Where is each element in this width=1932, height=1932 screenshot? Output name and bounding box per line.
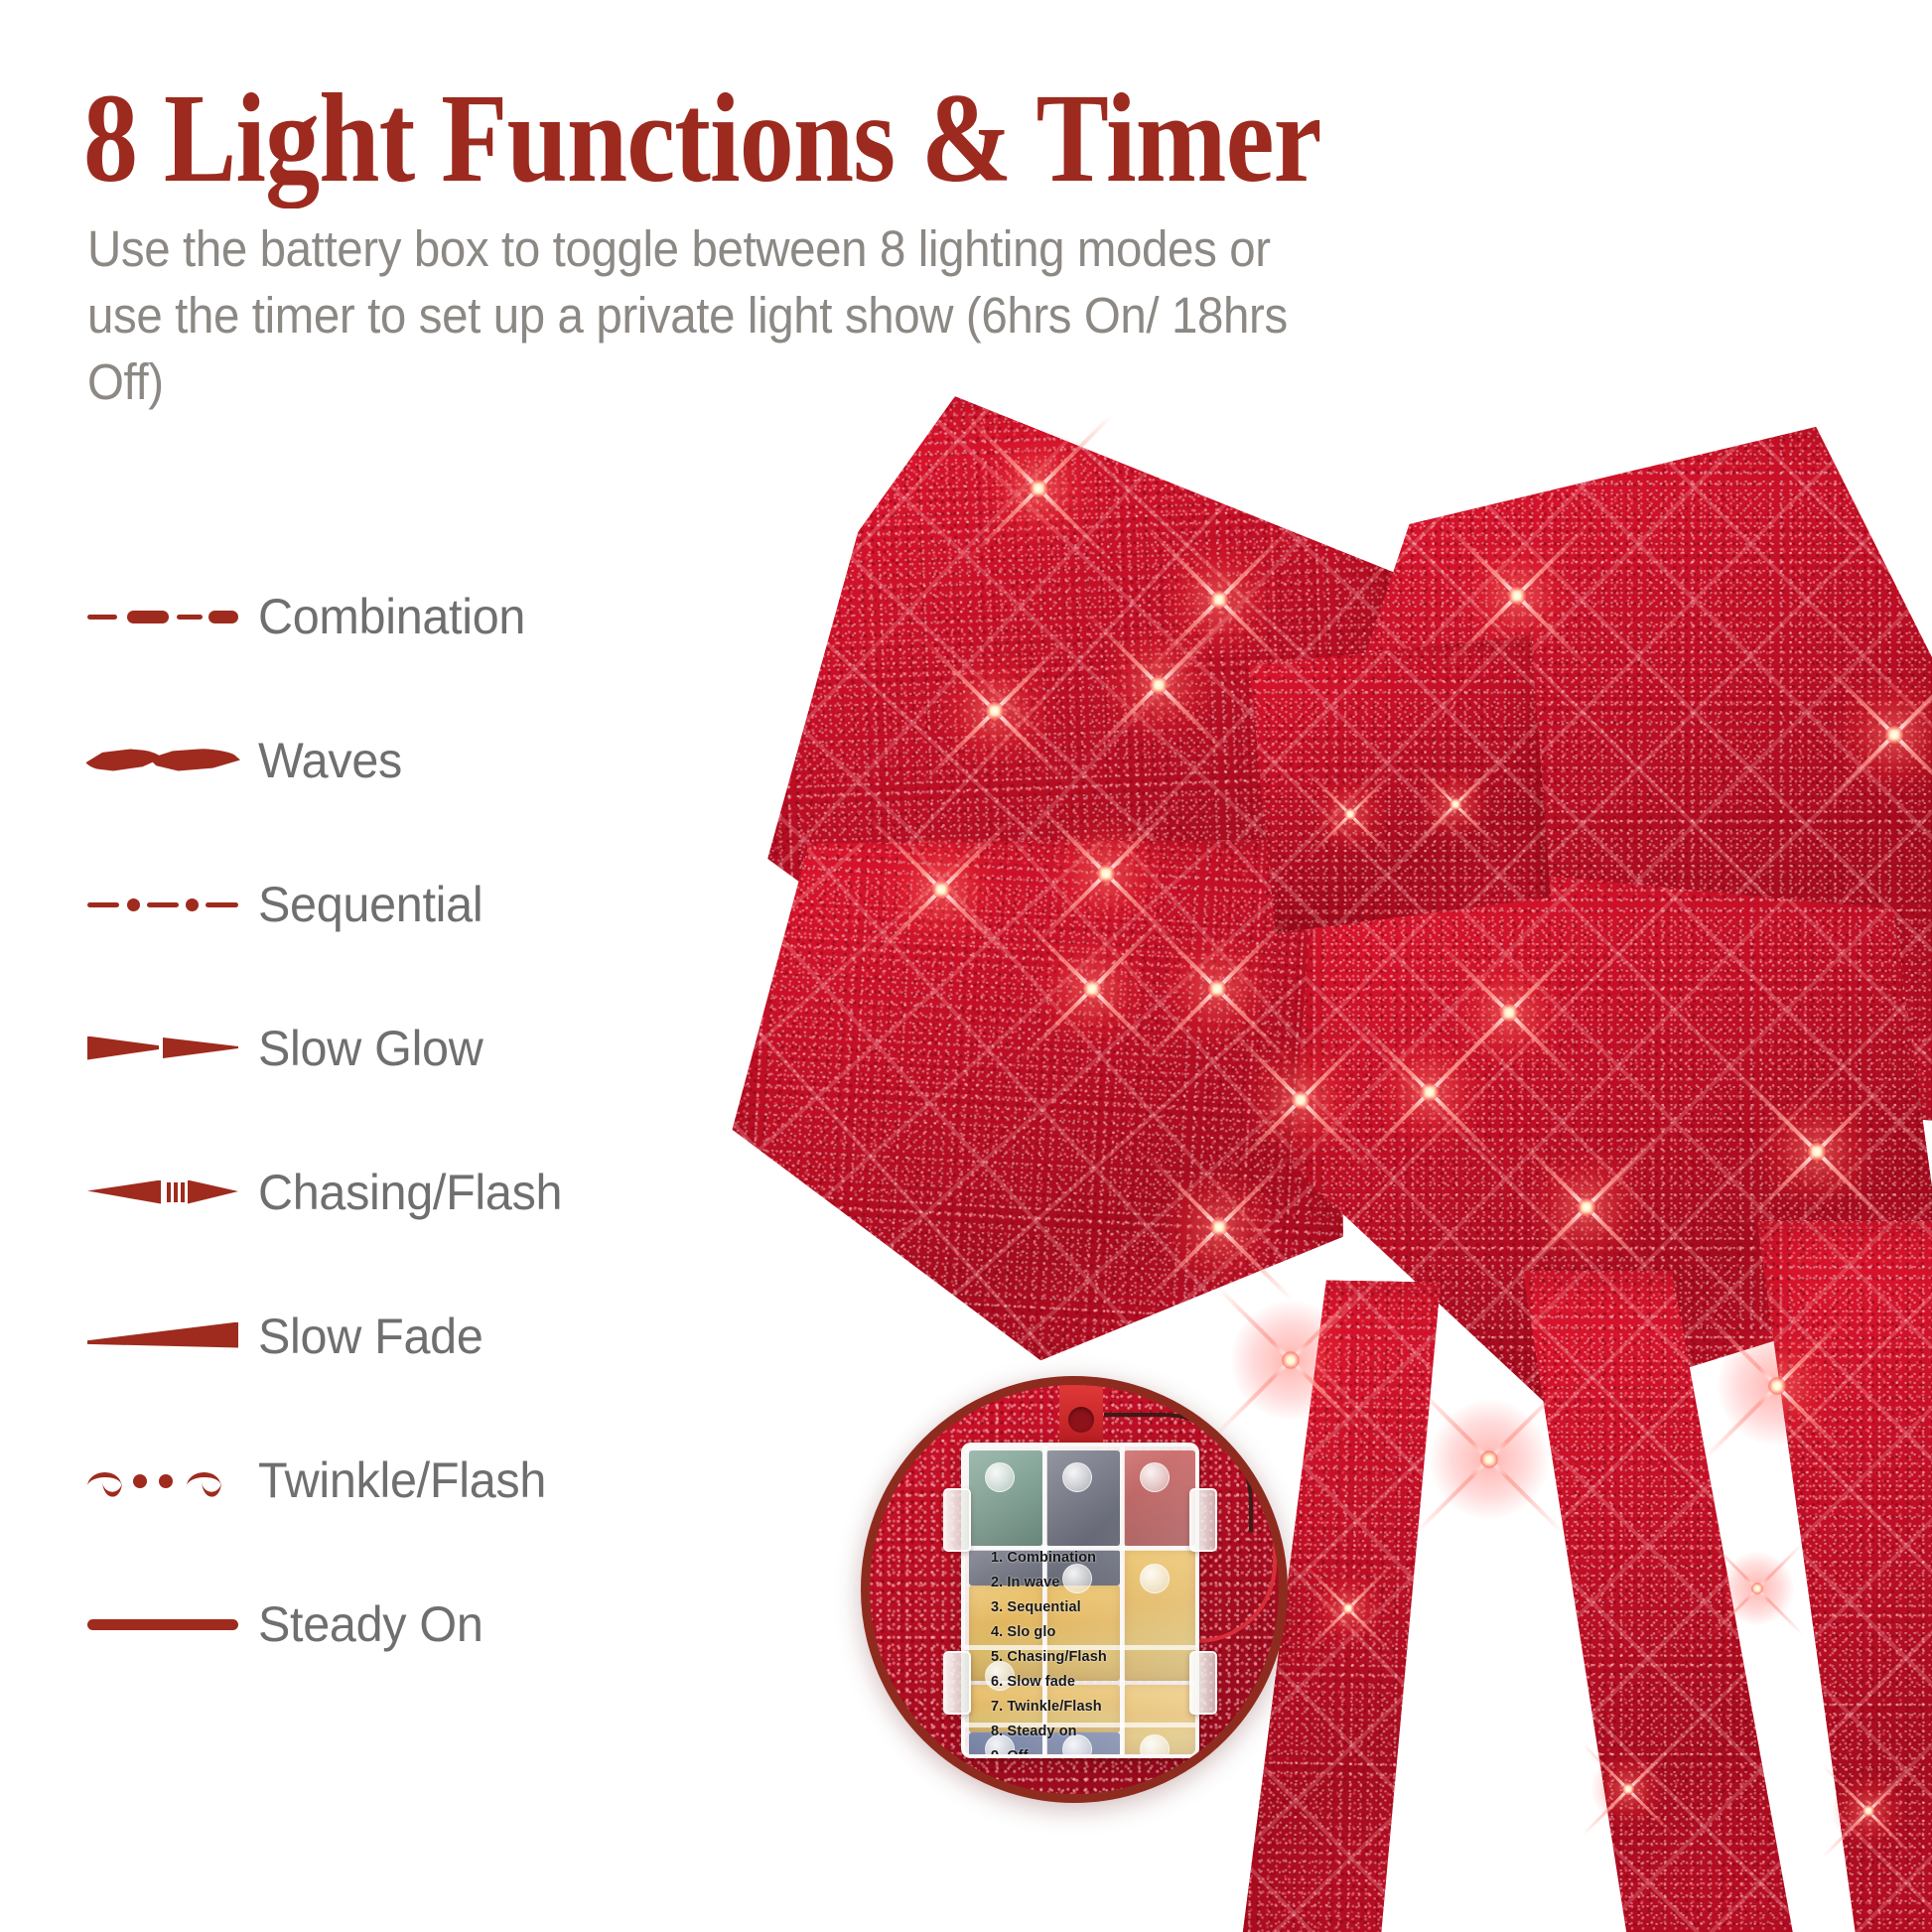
tapering-wedge-icon — [87, 1316, 236, 1356]
legend-item-waves: Waves — [87, 688, 802, 832]
dash-dot-line-icon — [87, 885, 236, 924]
legend-label: Combination — [258, 588, 525, 645]
legend-item-sequential: Sequential — [87, 832, 802, 976]
legend-label: Slow Glow — [258, 1020, 483, 1077]
page-title: 8 Light Functions & Timer — [83, 66, 1321, 211]
page-subtitle: Use the battery box to toggle between 8 … — [87, 216, 1288, 415]
light-functions-legend: Combination Waves Sequential Slow Glow C — [87, 544, 802, 1696]
opposed-wedge-bars-icon — [87, 1173, 236, 1212]
legend-item-slow-fade: Slow Fade — [87, 1264, 802, 1408]
dashed-line-icon — [87, 597, 236, 636]
legend-item-slow-glow: Slow Glow — [87, 976, 802, 1120]
legend-label: Twinkle/Flash — [258, 1451, 546, 1509]
solid-line-icon — [87, 1604, 236, 1644]
wave-lens-icon — [87, 741, 236, 780]
legend-label: Waves — [258, 732, 402, 789]
legend-item-twinkle-flash: Twinkle/Flash — [87, 1408, 802, 1552]
double-wedge-right-icon — [87, 1029, 236, 1068]
legend-item-steady-on: Steady On — [87, 1552, 802, 1696]
legend-label: Steady On — [258, 1595, 483, 1653]
legend-item-chasing-flash: Chasing/Flash — [87, 1120, 802, 1264]
tilde-dots-icon — [87, 1460, 236, 1500]
legend-item-combination: Combination — [87, 544, 802, 688]
legend-label: Sequential — [258, 876, 483, 933]
legend-label: Chasing/Flash — [258, 1164, 562, 1221]
legend-label: Slow Fade — [258, 1308, 483, 1365]
